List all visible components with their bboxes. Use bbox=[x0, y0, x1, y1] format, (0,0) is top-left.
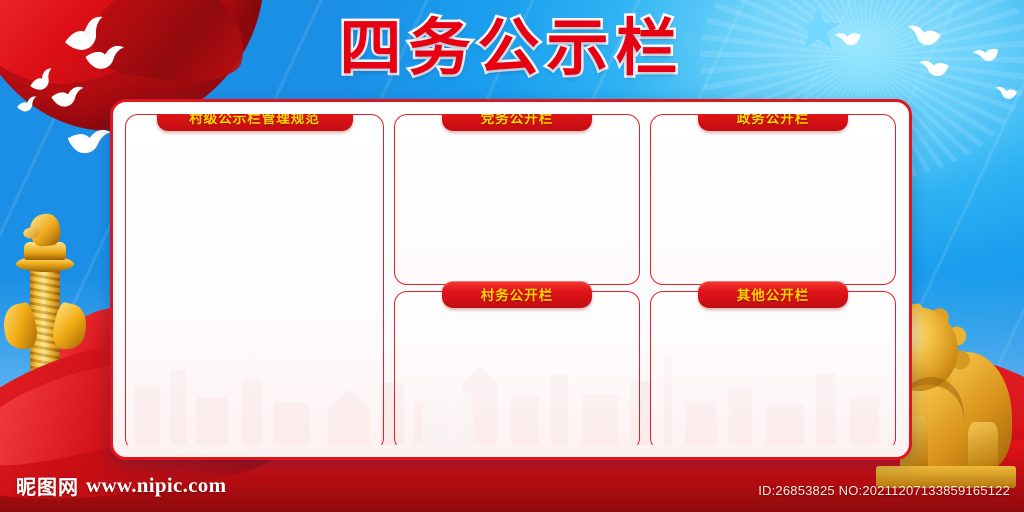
poster-canvas: 四务公示栏 bbox=[0, 0, 1024, 512]
watermark-brand-cn: 昵图网 bbox=[16, 471, 79, 500]
panel-grid: 村级公示栏管理规范 党务公开栏 政务公开栏 村务公开栏 其他公开栏 bbox=[125, 114, 897, 445]
watermark-url: www.nipic.com bbox=[86, 473, 226, 498]
dove-icon bbox=[49, 82, 85, 110]
panel-government-affairs[interactable]: 政务公开栏 bbox=[650, 114, 896, 285]
panel-party-affairs[interactable]: 党务公开栏 bbox=[394, 114, 640, 285]
panel-village-notice-board-rules[interactable]: 村级公示栏管理规范 bbox=[125, 114, 384, 445]
watermark: 昵图网 www.nipic.com bbox=[16, 471, 226, 500]
notice-board: 村级公示栏管理规范 党务公开栏 政务公开栏 村务公开栏 其他公开栏 bbox=[110, 99, 912, 460]
panel-village-affairs[interactable]: 村务公开栏 bbox=[394, 291, 640, 445]
panel-label: 村级公示栏管理规范 bbox=[157, 114, 353, 131]
panel-label: 村务公开栏 bbox=[442, 281, 592, 308]
asset-id-text: ID:26853825 NO:20211207133859165122 bbox=[758, 483, 1010, 498]
column-lion-figure bbox=[28, 213, 61, 248]
panel-other-affairs[interactable]: 其他公开栏 bbox=[650, 291, 896, 445]
dove-icon bbox=[15, 95, 39, 114]
notice-board-inner: 村级公示栏管理规范 党务公开栏 政务公开栏 村务公开栏 其他公开栏 bbox=[125, 114, 897, 445]
panel-label: 其他公开栏 bbox=[698, 281, 848, 308]
page-title: 四务公示栏 bbox=[0, 17, 1024, 79]
panel-label: 党务公开栏 bbox=[442, 114, 592, 131]
panel-label: 政务公开栏 bbox=[698, 114, 848, 131]
